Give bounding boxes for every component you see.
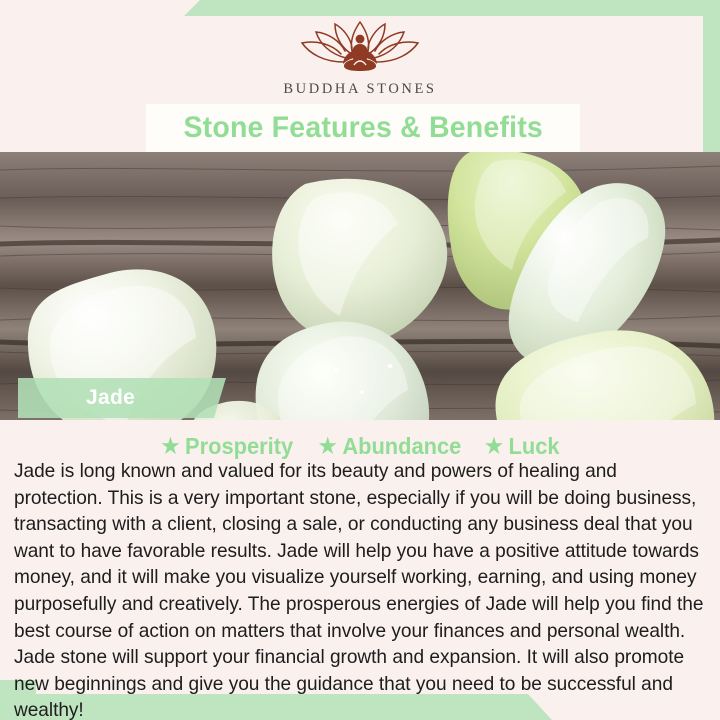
benefits-row: ★ Prosperity ★ Abundance ★ Luck <box>0 430 720 462</box>
benefit-luck: ★ Luck <box>485 433 560 460</box>
lotus-meditation-icon <box>294 18 426 80</box>
star-icon: ★ <box>485 436 503 457</box>
title-banner: Stone Features & Benefits <box>146 104 580 152</box>
benefit-abundance: ★ Abundance <box>319 433 462 460</box>
brand-logo: BUDDHA STONES <box>0 18 720 104</box>
infographic-card: BUDDHA STONES Stone Features & Benefits <box>0 0 720 720</box>
brand-name: BUDDHA STONES <box>283 81 436 98</box>
stone-description: Jade is long known and valued for its be… <box>14 459 708 720</box>
star-icon: ★ <box>319 436 337 457</box>
benefit-label: Luck <box>509 433 560 460</box>
page-title: Stone Features & Benefits <box>183 111 543 145</box>
decorative-top-green-band <box>0 0 720 16</box>
star-icon: ★ <box>162 436 180 457</box>
benefit-label: Abundance <box>342 433 461 460</box>
stone-name-band: Jade <box>18 378 226 418</box>
stone-name-label: Jade <box>86 386 135 410</box>
benefit-label: Prosperity <box>185 433 293 460</box>
benefit-prosperity: ★ Prosperity <box>162 433 294 460</box>
